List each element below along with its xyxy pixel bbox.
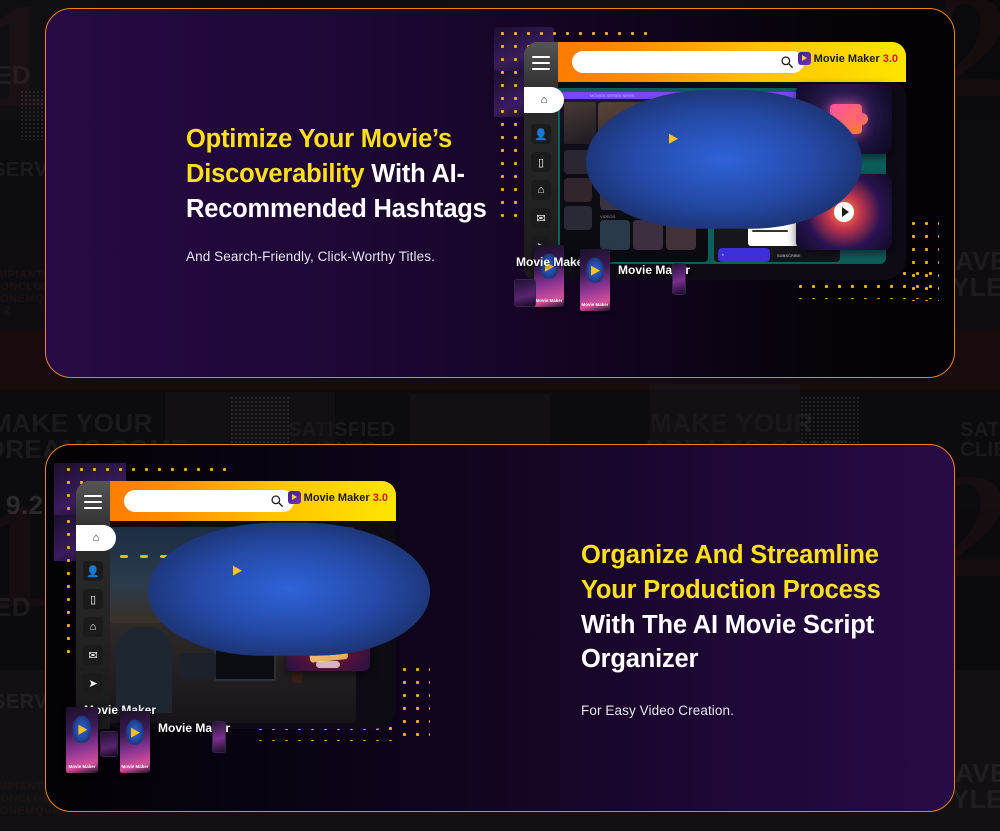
envelope-icon: ✉: [531, 208, 551, 228]
bg-text-mpiantur-2: CONCLUS: [0, 794, 50, 806]
dot-grid-right: [907, 217, 939, 301]
brand-name-2: Movie Maker: [304, 492, 370, 504]
sidebar-item-home-2[interactable]: ⌂: [76, 525, 116, 551]
movie-maker-mascot-icon-5: [72, 716, 91, 742]
actor-thumb: [564, 102, 596, 144]
brand-version-2: 3.0: [373, 492, 388, 504]
subscribe-panel[interactable]: ★: [718, 248, 770, 262]
card-1-headline-line-2: Discoverability: [186, 160, 364, 188]
product-tablet-2: [100, 731, 118, 757]
home-icon: ⌂: [524, 87, 564, 113]
product-phone-1: [672, 263, 686, 295]
card-2-headline: Organize And Streamline Your Production …: [581, 538, 921, 678]
sidebar-item-pointer-2[interactable]: ➤: [83, 673, 103, 693]
product-box-label-4: Movie Maker: [120, 764, 150, 769]
product-box-2: Movie Maker: [580, 249, 610, 311]
browser-topbar-2: Movie Maker 3.0: [76, 481, 396, 521]
movie-maker-mascot-icon-3: [586, 90, 862, 229]
card-1-mockup: Movie Maker 3.0 MOVIES SERIES NEWS: [494, 27, 954, 357]
search-icon-2: [270, 494, 284, 508]
dot-grid-left: [496, 27, 526, 219]
card-1-copy: Optimize Your Movie’s Discoverability Wi…: [186, 9, 516, 377]
bg-text-onemque: 9.2: [0, 306, 11, 318]
sidebar-item-home[interactable]: ⌂: [524, 87, 564, 113]
product-box-4: Movie Maker: [120, 711, 150, 773]
subscribe-label: SUBSCRIBE: [777, 253, 801, 258]
product-phone-2: [212, 721, 226, 753]
bg-dot-texture-2: [800, 396, 860, 446]
card-2-subcopy: For Easy Video Creation.: [581, 703, 921, 718]
play-button[interactable]: [834, 202, 854, 222]
movie-maker-mascot-icon-2: [586, 258, 604, 283]
card-2-headline-line-2: Your Production Process: [581, 576, 881, 604]
building-icon: ⌂: [531, 180, 551, 200]
product-box-label-1: Movie Maker: [534, 298, 564, 303]
product-box-3: Movie Maker: [66, 707, 98, 773]
book-icon: ▯: [531, 152, 551, 172]
card-2-copy: Organize And Streamline Your Production …: [581, 445, 921, 811]
director-silhouette: [116, 627, 172, 713]
search-input[interactable]: [572, 51, 804, 73]
person-icon: 👤: [531, 124, 551, 144]
bg-text-ed-2: ED: [0, 594, 31, 621]
bg-text-ed: ED: [0, 62, 31, 89]
feature-card-script-organizer: Movie Maker 3.0: [45, 444, 955, 812]
sidebar-item-profile-2[interactable]: 👤: [83, 561, 103, 581]
product-box-label-2: Movie Maker: [580, 302, 610, 307]
home-icon-2: ⌂: [76, 525, 116, 551]
sidebar-item-company-2[interactable]: ⌂: [83, 617, 103, 637]
movie-maker-mascot-icon-7: [148, 523, 430, 656]
brand-name: Movie Maker: [814, 53, 880, 65]
brand-logo-lockup-2: Movie Maker 3.0: [288, 491, 388, 504]
hamburger-menu-icon[interactable]: [532, 56, 550, 74]
envelope-icon-2: ✉: [83, 645, 103, 665]
product-laptop-label-1: Movie Maker: [516, 255, 588, 269]
bg-dot-texture-1: [230, 396, 290, 446]
bg-text-clients-2: CLIENTS: [960, 440, 1000, 461]
movie-maker-logo-icon: [798, 52, 811, 65]
card-1-headline-line-1: Optimize Your Movie’s: [186, 125, 452, 153]
browser-topbar: Movie Maker 3.0: [524, 42, 906, 82]
dot-grid-right-2: [398, 663, 430, 743]
sidebar-item-library[interactable]: ▯: [531, 152, 551, 172]
search-icon: [780, 55, 794, 69]
card-2-headline-line-1: Organize And Streamline: [581, 541, 879, 569]
product-watch-mockup: [514, 279, 536, 307]
sidebar-item-library-2[interactable]: ▯: [83, 589, 103, 609]
person-icon-2: 👤: [83, 561, 103, 581]
card-1-headline-line-3: Recommended Hashtags: [186, 195, 487, 223]
card-1-headline-line-2b: With AI-: [364, 160, 464, 188]
sidebar-item-mail-2[interactable]: ✉: [83, 645, 103, 665]
product-box-label-3: Movie Maker: [66, 764, 98, 769]
book-icon-2: ▯: [83, 589, 103, 609]
section-videos: VIDEOS: [600, 214, 615, 219]
sidebar-item-profile[interactable]: 👤: [531, 124, 551, 144]
feature-card-hashtags: Optimize Your Movie’s Discoverability Wi…: [45, 8, 955, 378]
mockup-sidebar-2: ⌂ 👤 ▯ ⌂ ✉ ➤ ◉: [76, 481, 110, 729]
bg-text-mpiantur: CONCLUS: [0, 282, 50, 294]
brand-version: 3.0: [883, 53, 898, 65]
card-2-headline-line-3: With The AI Movie Script: [581, 611, 874, 639]
card-2-mockup: Movie Maker 3.0: [54, 463, 524, 795]
cursor-icon-2: ➤: [83, 673, 103, 693]
card-1-subcopy: And Search-Friendly, Click-Worthy Titles…: [186, 249, 516, 264]
bg-text-score: 9.2: [6, 492, 44, 519]
sidebar-item-mail[interactable]: ✉: [531, 208, 551, 228]
card-1-headline: Optimize Your Movie’s Discoverability Wi…: [186, 122, 516, 227]
card-2-headline-line-4: Organizer: [581, 645, 698, 673]
laptop-left: [180, 653, 216, 679]
hamburger-menu-icon-2[interactable]: [84, 495, 102, 513]
sidebar-item-company[interactable]: ⌂: [531, 180, 551, 200]
search-input-2[interactable]: [124, 490, 294, 512]
bg-text-satisfied-2: SATISFIED: [960, 420, 1000, 441]
building-icon-2: ⌂: [83, 617, 103, 637]
movie-maker-mascot-icon-6: [126, 720, 144, 745]
movie-maker-logo-icon-2: [288, 491, 301, 504]
brand-logo-lockup: Movie Maker 3.0: [798, 52, 898, 65]
